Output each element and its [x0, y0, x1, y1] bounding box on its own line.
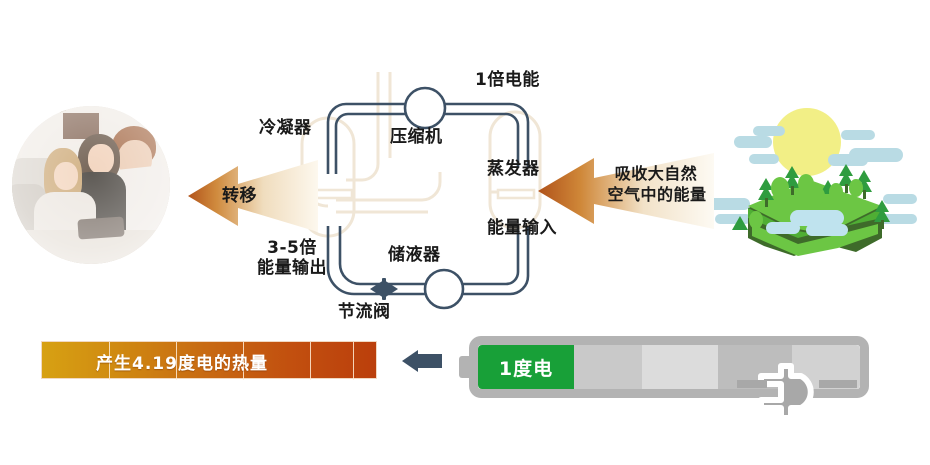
label-condenser: 冷凝器 — [259, 118, 312, 139]
label-compressor: 压缩机 — [390, 127, 443, 148]
heat-output-label: 产生4.19度电的热量 — [42, 342, 378, 380]
nature-island-illustration — [706, 88, 921, 274]
battery-label: 1度电 — [478, 345, 574, 389]
compressor-icon — [405, 88, 445, 128]
throttle-valve-icon — [370, 278, 398, 300]
energy-flow-arrow-left — [402, 350, 442, 372]
power-plug-icon — [737, 354, 857, 416]
label-energy-output-line1: 3-5倍 — [244, 238, 340, 259]
label-transfer: 转移 — [222, 186, 257, 207]
label-absorb-line2: 空气中的能量 — [590, 185, 724, 205]
label-absorb-line1: 吸收大自然 — [596, 164, 716, 184]
label-power-input: 1倍电能 — [475, 70, 540, 91]
battery-cell-empty — [574, 345, 642, 389]
family-photo — [12, 106, 170, 264]
heat-output-bar: 产生4.19度电的热量 — [41, 341, 377, 379]
label-throttle-valve: 节流阀 — [338, 302, 391, 323]
label-energy-output-line2: 能量输出 — [238, 258, 346, 279]
battery-cell-empty — [642, 345, 718, 389]
battery-cell-filled: 1度电 — [478, 345, 574, 389]
battery-meter: 1度电 — [459, 336, 869, 398]
label-receiver: 储液器 — [388, 245, 441, 266]
infographic-canvas: 1倍电能 压缩机 冷凝器 蒸发器 能量输入 储液器 节流阀 3-5倍 能量输出 … — [0, 0, 930, 465]
sun-icon — [773, 108, 841, 176]
liquid-receiver-icon — [425, 270, 463, 308]
label-evaporator: 蒸发器 — [487, 159, 540, 180]
